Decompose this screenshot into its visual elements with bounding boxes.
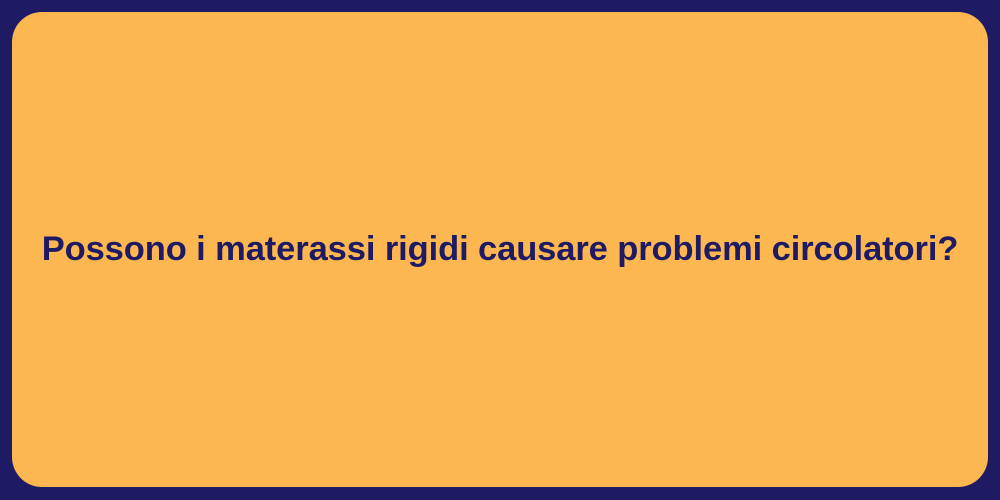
banner-card: Possono i materassi rigidi causare probl… bbox=[12, 12, 988, 487]
banner-frame: Possono i materassi rigidi causare probl… bbox=[0, 0, 1000, 500]
banner-heading: Possono i materassi rigidi causare probl… bbox=[42, 226, 959, 273]
